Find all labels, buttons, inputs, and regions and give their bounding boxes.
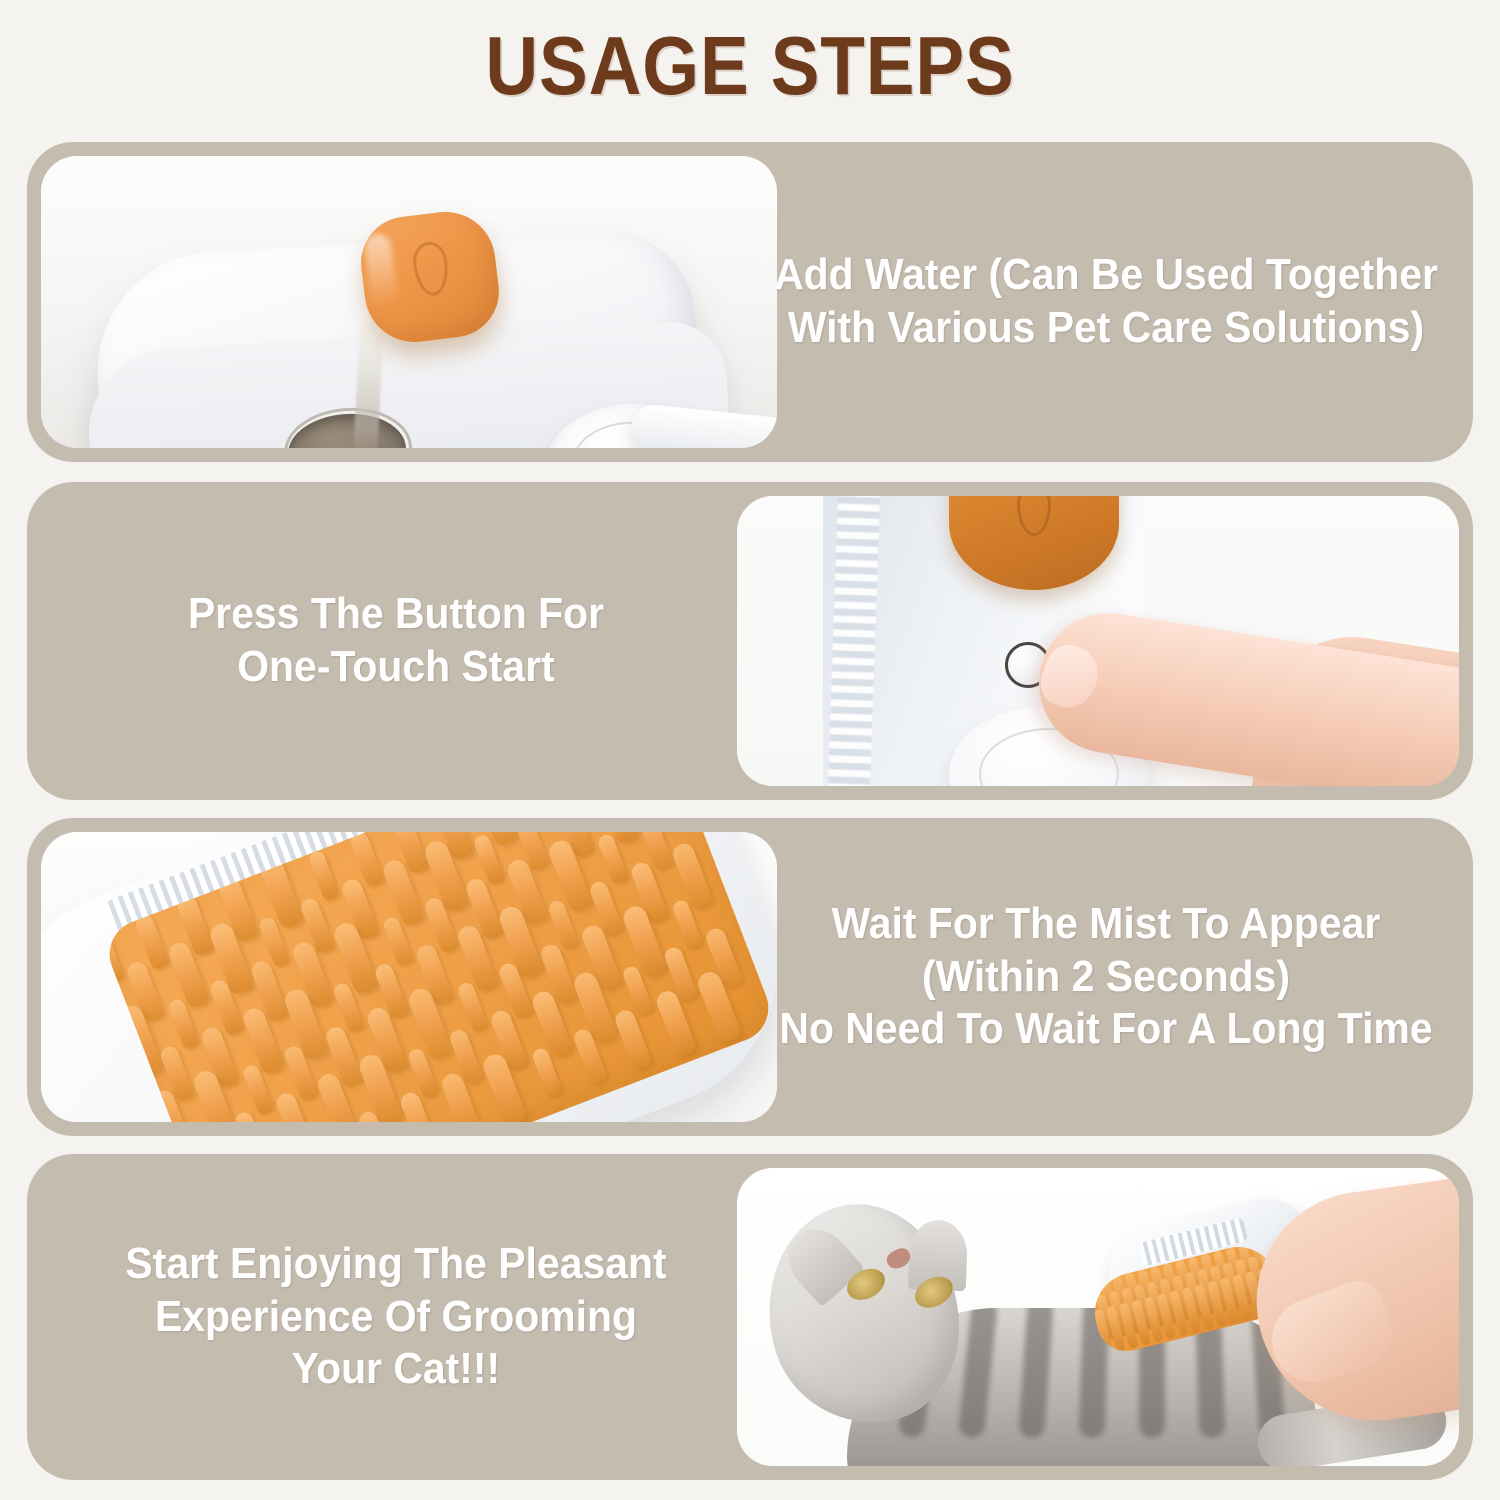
caption-line: One-Touch Start	[237, 641, 555, 694]
caption-line: Start Enjoying The Pleasant	[125, 1238, 666, 1291]
usage-steps-infographic: USAGE STEPS Add Wat	[0, 0, 1500, 1500]
step-1-caption: Add Water (Can Be Used Together With Var…	[768, 142, 1443, 462]
caption-line: (Within 2 Seconds)	[922, 951, 1290, 1004]
water-drop-icon	[411, 240, 451, 298]
caption-line: Add Water (Can Be Used Together	[774, 249, 1438, 302]
step-2-image	[737, 496, 1459, 786]
caption-line: With Various Pet Care Solutions)	[788, 302, 1424, 355]
stripe	[958, 1308, 998, 1439]
step-card-1: Add Water (Can Be Used Together With Var…	[27, 142, 1473, 462]
caption-line: Press The Button For	[188, 588, 604, 641]
step-card-4: Start Enjoying The Pleasant Experience O…	[27, 1154, 1473, 1480]
step-1-image	[41, 156, 777, 448]
step-4-caption: Start Enjoying The Pleasant Experience O…	[57, 1154, 736, 1480]
step-card-3: Wait For The Mist To Appear (Within 2 Se…	[27, 818, 1473, 1136]
caption-line: No Need To Wait For A Long Time	[779, 1003, 1432, 1056]
step-3-caption: Wait For The Mist To Appear (Within 2 Se…	[768, 818, 1443, 1136]
caption-line: Wait For The Mist To Appear	[832, 898, 1381, 951]
bristle	[307, 849, 340, 901]
water-drop-icon	[1017, 496, 1051, 536]
bristle	[613, 1008, 653, 1072]
cap-highlight	[363, 233, 398, 308]
page-title: USAGE STEPS	[90, 18, 1410, 114]
step-2-caption: Press The Button For One-Touch Start	[57, 482, 736, 800]
orange-water-cap	[356, 206, 504, 347]
caption-line: Your Cat!!!	[292, 1343, 500, 1396]
step-4-image	[737, 1168, 1459, 1466]
stripe	[1018, 1308, 1054, 1439]
caption-line: Experience Of Grooming	[155, 1291, 637, 1344]
step-3-image	[41, 832, 777, 1122]
step-card-2: Press The Button For One-Touch Start	[27, 482, 1473, 800]
bristle	[670, 841, 714, 911]
